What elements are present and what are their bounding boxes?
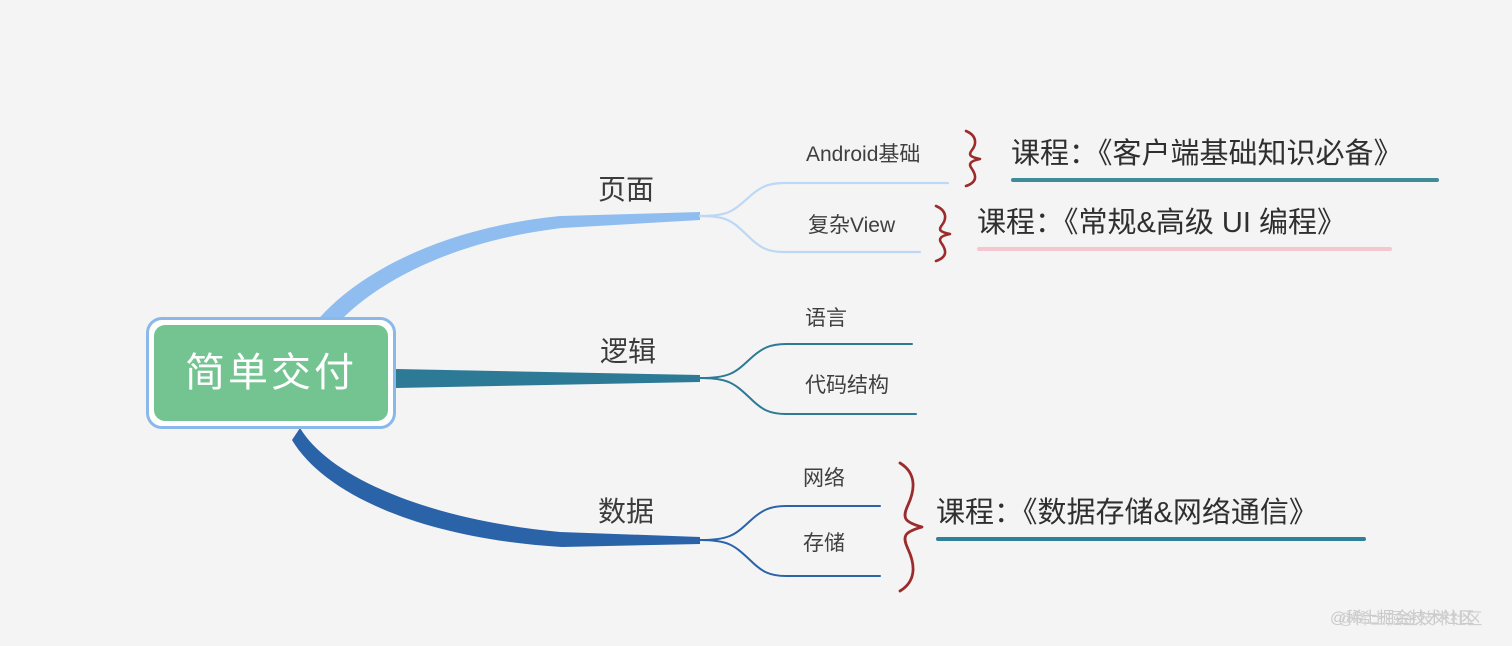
center-node-fill: 简单交付 [154, 325, 388, 421]
course-client-basics[interactable]: 课程：《客户端基础知识必备》 [1011, 140, 1439, 182]
course-ui-programming-underline [977, 247, 1392, 251]
brace-icon-ui-programming [936, 206, 950, 261]
branch-label-logic[interactable]: 逻辑 [600, 338, 656, 366]
course-client-basics-underline [1011, 178, 1439, 182]
watermark-text-ghost: @稀土掘金技术社区 [1338, 605, 1482, 629]
watermark: @稀土掘金技术社区 @稀土掘金技术社区 [1330, 604, 1474, 628]
center-node-label: 简单交付 [185, 353, 357, 393]
fork-data-lower [700, 540, 880, 576]
course-storage-network[interactable]: 课程：《数据存储&网络通信》 [936, 499, 1366, 541]
fork-page-upper [700, 183, 948, 216]
course-storage-network-text: 课程：《数据存储&网络通信》 [936, 499, 1366, 537]
mindmap-canvas: 简单交付 页面 逻辑 数据 Android基础 复杂View 语言 代码结构 网… [0, 0, 1512, 646]
sub-node-storage[interactable]: 存储 [803, 533, 845, 554]
branch-label-data[interactable]: 数据 [598, 498, 654, 526]
course-ui-programming[interactable]: 课程：《常规&高级 UI 编程》 [977, 209, 1392, 251]
brace-icon-client-basics [966, 131, 980, 186]
course-ui-programming-text: 课程：《常规&高级 UI 编程》 [977, 209, 1392, 247]
brace-icon-storage-network [900, 463, 922, 591]
fork-logic-upper [700, 344, 912, 378]
fork-data-upper [700, 506, 880, 540]
branch-trunk-logic [396, 369, 700, 388]
sub-node-network[interactable]: 网络 [803, 468, 845, 489]
center-node[interactable]: 简单交付 [146, 317, 396, 429]
sub-node-language[interactable]: 语言 [805, 308, 847, 329]
course-client-basics-text: 课程：《客户端基础知识必备》 [1011, 140, 1439, 178]
sub-node-complex-view[interactable]: 复杂View [808, 215, 895, 236]
sub-node-android-basics[interactable]: Android基础 [806, 144, 920, 165]
course-storage-network-underline [936, 537, 1366, 541]
branch-trunk-data [292, 428, 700, 547]
sub-node-code-structure[interactable]: 代码结构 [805, 375, 889, 396]
branch-label-page[interactable]: 页面 [598, 176, 654, 204]
